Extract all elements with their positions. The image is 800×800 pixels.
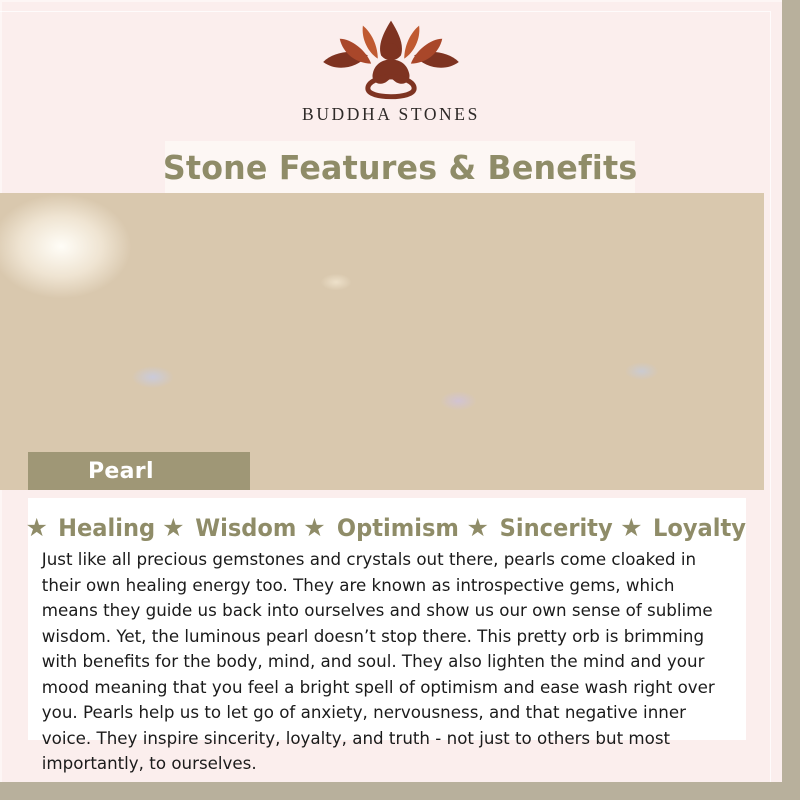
star-icon: ★ — [162, 516, 184, 541]
stone-name-label: Pearl — [88, 459, 154, 484]
description-card: ★ Healing ★ Wisdom ★ Optimism ★ Sincerit… — [28, 498, 746, 740]
benefit-item-sincerity: ★ Sincerity — [466, 514, 616, 542]
star-icon: ★ — [466, 516, 488, 541]
page-title: Stone Features & Benefits — [163, 148, 637, 187]
brand-logo: BUDDHA STONES — [0, 14, 782, 125]
benefit-item-optimism: ★ Optimism — [303, 514, 462, 542]
benefit-label: Healing — [58, 514, 155, 542]
pearl-gemstones-photo — [0, 193, 764, 490]
title-banner: Stone Features & Benefits — [165, 141, 635, 193]
benefit-label: Optimism — [337, 514, 459, 542]
benefit-label: Sincerity — [499, 514, 612, 542]
star-icon: ★ — [25, 516, 47, 541]
benefit-label: Loyalty — [653, 514, 746, 542]
benefit-item-wisdom: ★ Wisdom — [162, 514, 299, 542]
stone-name-bar: Pearl — [28, 452, 250, 490]
star-icon: ★ — [303, 516, 325, 541]
brand-name: BUDDHA STONES — [302, 104, 480, 125]
description-text: Just like all precious gemstones and cry… — [36, 548, 734, 778]
benefit-item-healing: ★ Healing — [25, 514, 158, 542]
benefits-list: ★ Healing ★ Wisdom ★ Optimism ★ Sincerit… — [36, 514, 738, 542]
benefit-item-loyalty: ★ Loyalty — [620, 514, 748, 542]
poster-page: BUDDHA STONES Stone Features & Benefits … — [0, 0, 782, 782]
lotus-meditation-figure-icon — [307, 14, 475, 100]
star-icon: ★ — [620, 516, 642, 541]
benefit-label: Wisdom — [195, 514, 296, 542]
